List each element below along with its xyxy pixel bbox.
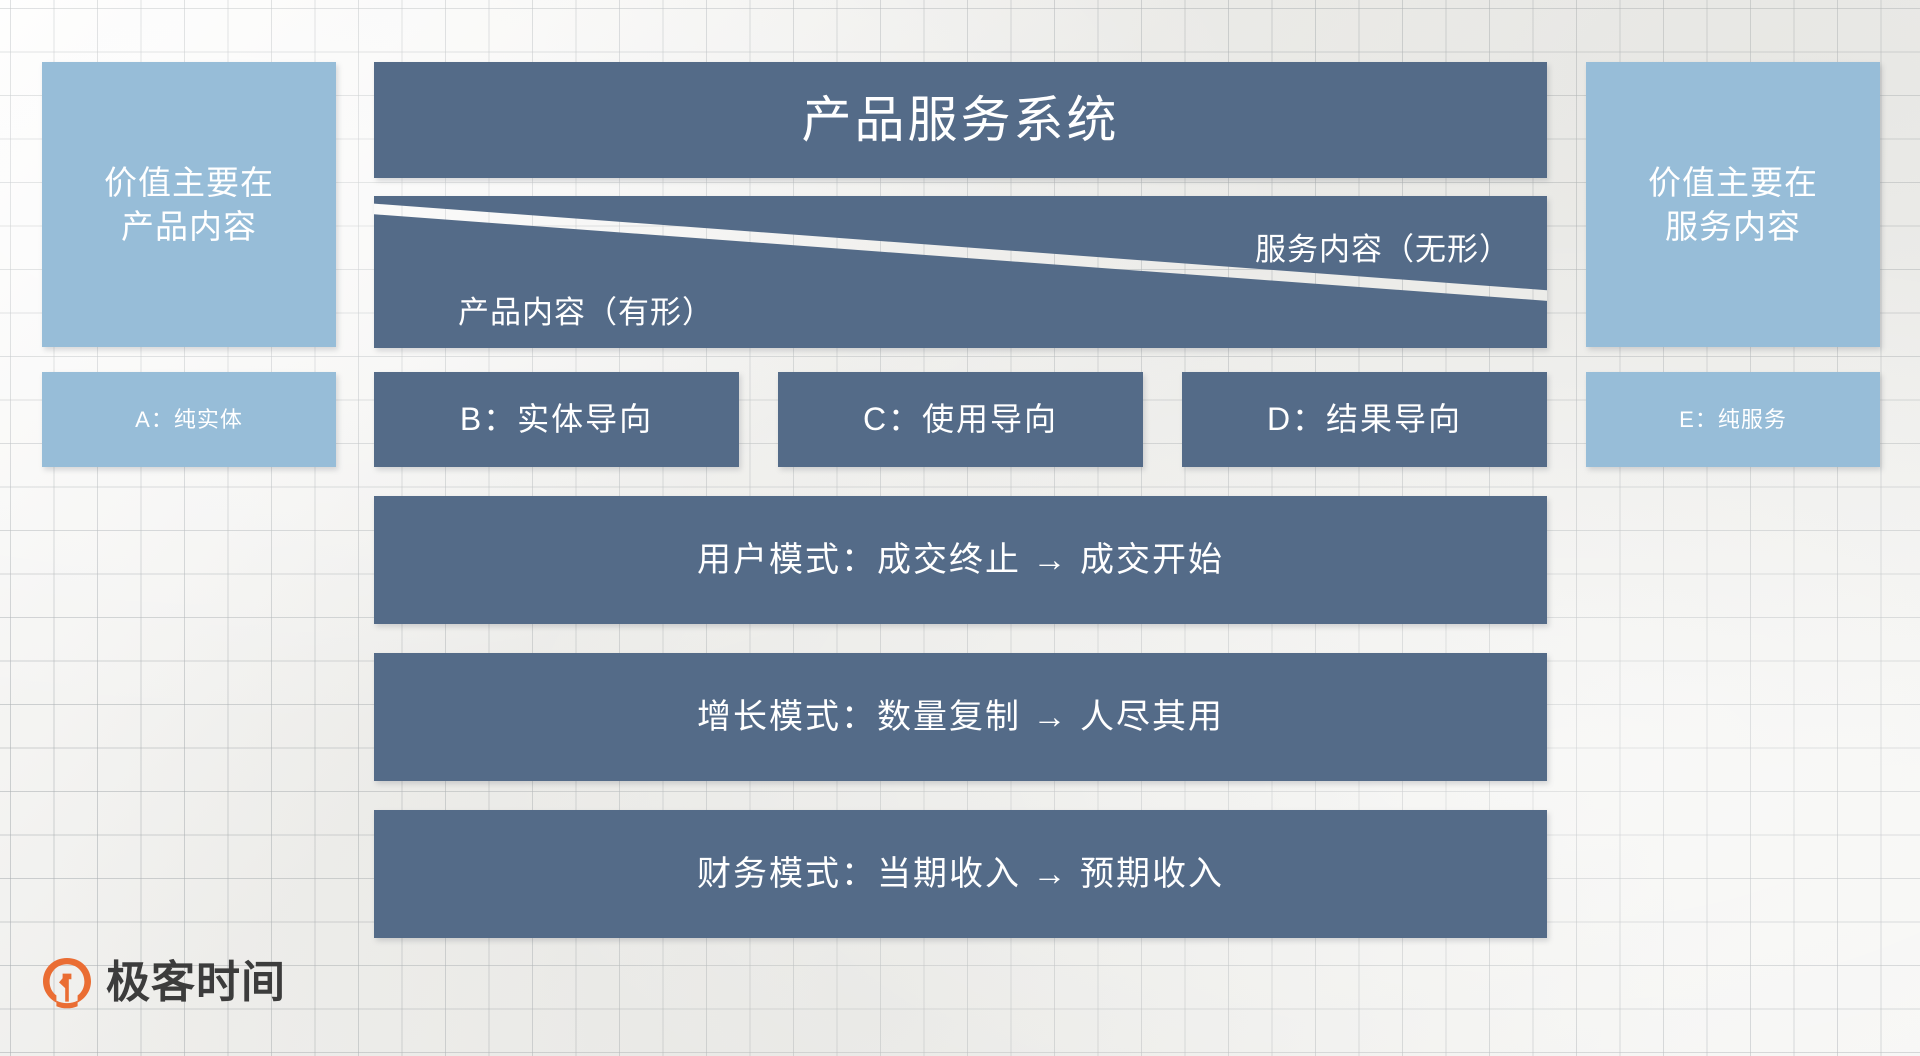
growth-mode-label: 增长模式：数量复制 → 人尽其用 (697, 695, 1224, 740)
category-a-box: A：纯实体 (42, 372, 336, 467)
slide-canvas: 价值主要在 产品内容 A：纯实体 价值主要在 服务内容 E：纯服务 产品服务系统… (0, 0, 1920, 1056)
category-c-label: C：使用导向 (863, 398, 1058, 440)
brand-logo-text: 极客时间 (106, 961, 286, 1005)
user-mode-label: 用户模式：成交终止 → 成交开始 (697, 538, 1224, 583)
category-a-label: A：纯实体 (135, 405, 243, 434)
category-d-label: D：结果导向 (1267, 398, 1462, 440)
category-e-label: E：纯服务 (1679, 405, 1787, 434)
category-b-box: B：实体导向 (374, 372, 739, 467)
product-service-split-band: 服务内容（无形） 产品内容（有形） (374, 196, 1547, 348)
right-value-line-1: 价值主要在 (1648, 161, 1818, 205)
right-value-line-2: 服务内容 (1648, 205, 1818, 249)
left-value-panel: 价值主要在 产品内容 (42, 62, 336, 347)
left-value-line-2: 产品内容 (104, 205, 274, 249)
category-e-box: E：纯服务 (1586, 372, 1880, 467)
brand-logo: 极客时间 (40, 956, 286, 1010)
right-value-panel: 价值主要在 服务内容 (1586, 62, 1880, 347)
diagram-title-band: 产品服务系统 (374, 62, 1547, 178)
finance-mode-label: 财务模式：当期收入 → 预期收入 (697, 852, 1224, 897)
category-c-box: C：使用导向 (778, 372, 1143, 467)
category-b-label: B：实体导向 (460, 398, 653, 440)
growth-mode-bar: 增长模式：数量复制 → 人尽其用 (374, 653, 1547, 781)
geektime-logo-icon (40, 956, 94, 1010)
user-mode-bar: 用户模式：成交终止 → 成交开始 (374, 496, 1547, 624)
page-title: 产品服务系统 (802, 87, 1120, 153)
service-content-label: 服务内容（无形） (1255, 224, 1511, 269)
finance-mode-bar: 财务模式：当期收入 → 预期收入 (374, 810, 1547, 938)
product-content-label: 产品内容（有形） (458, 287, 714, 332)
left-value-line-1: 价值主要在 (104, 161, 274, 205)
category-d-box: D：结果导向 (1182, 372, 1547, 467)
